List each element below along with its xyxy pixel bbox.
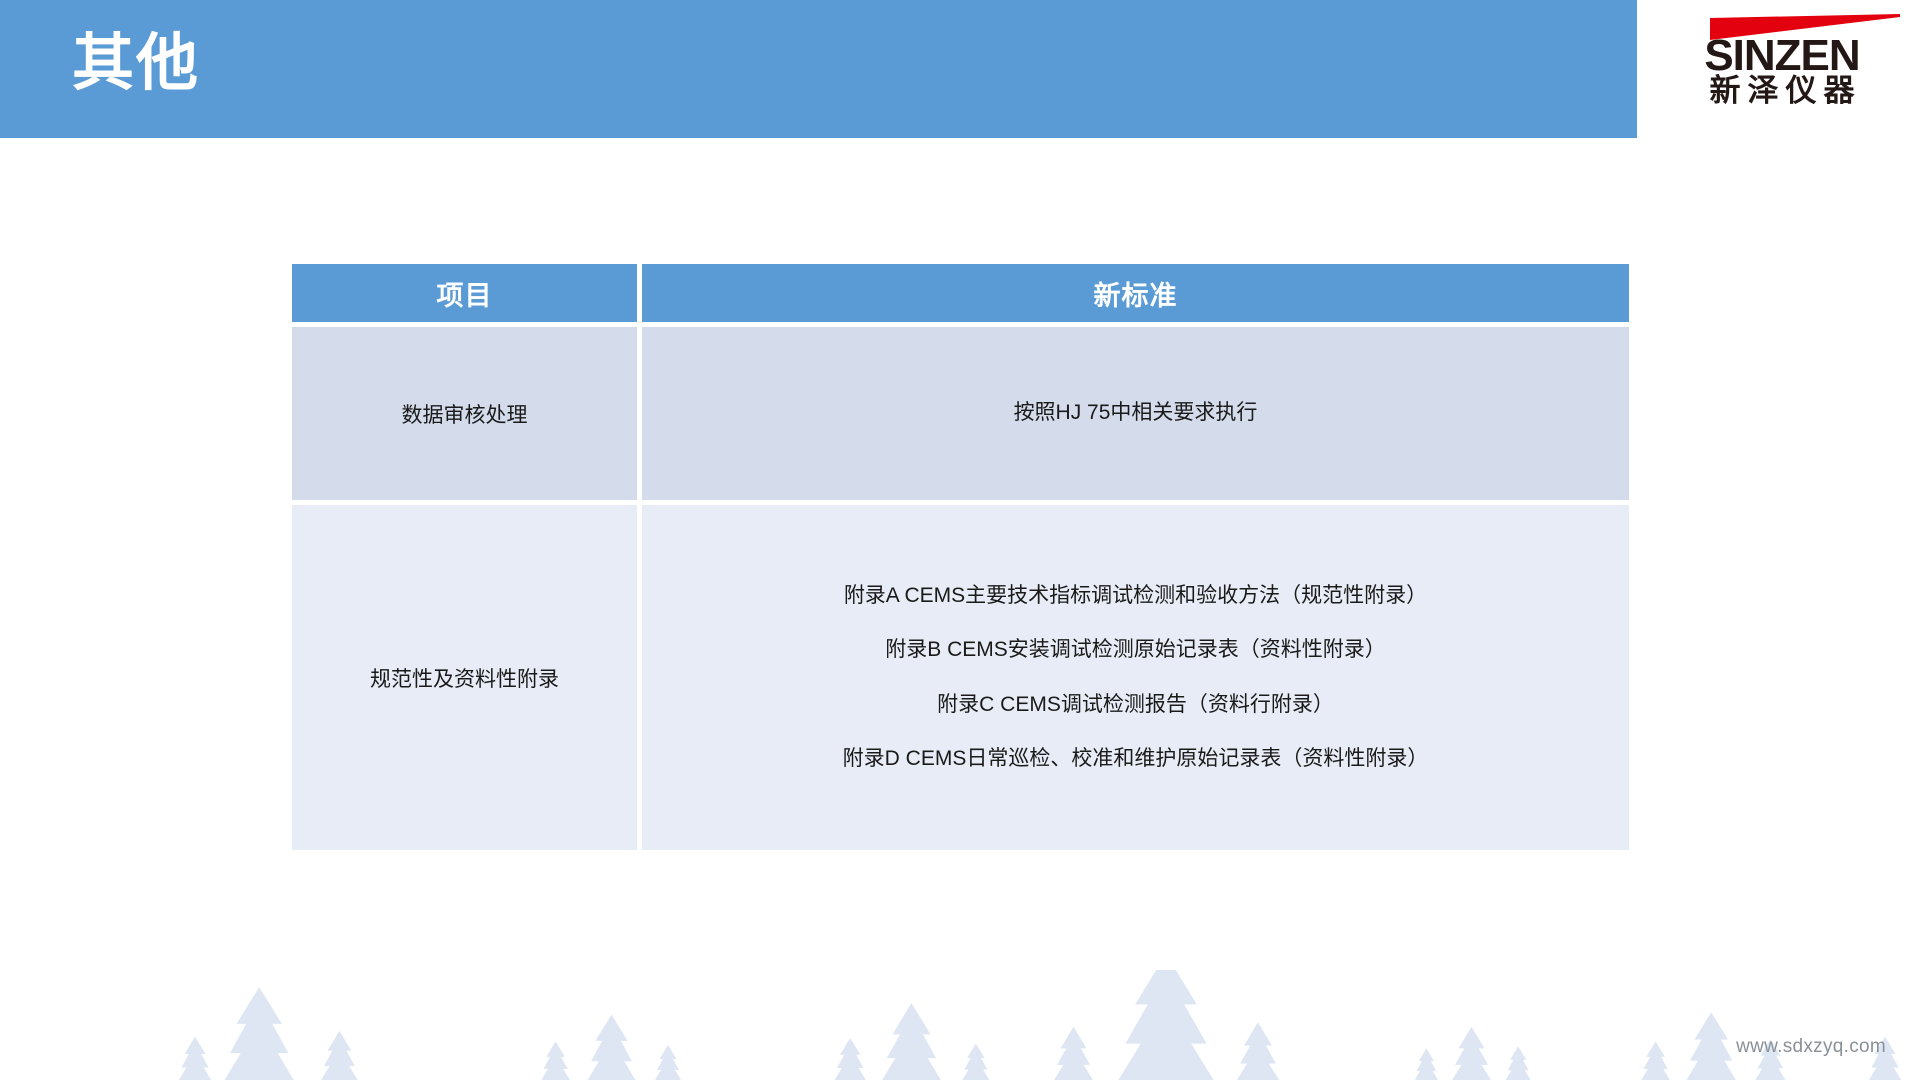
table-header-item: 项目 bbox=[292, 264, 637, 322]
footer-website-url: www.sdxzyq.com bbox=[1736, 1036, 1886, 1058]
table-row: 数据审核处理 按照HJ 75中相关要求执行 bbox=[292, 327, 1629, 500]
table-row: 规范性及资料性附录 附录A CEMS主要技术指标调试检测和验收方法（规范性附录）… bbox=[292, 505, 1629, 850]
decorative-trees bbox=[0, 970, 1920, 1080]
row-standard-cell: 附录A CEMS主要技术指标调试检测和验收方法（规范性附录） 附录B CEMS安… bbox=[642, 505, 1629, 850]
header-banner: 其他 bbox=[0, 0, 1637, 138]
page-title: 其他 bbox=[72, 16, 200, 112]
table-header-row: 项目 新标准 bbox=[292, 264, 1629, 322]
standard-line: 按照HJ 75中相关要求执行 bbox=[1014, 386, 1258, 440]
table-header-standard: 新标准 bbox=[642, 264, 1629, 322]
comparison-table: 项目 新标准 数据审核处理 按照HJ 75中相关要求执行 规范性及资料性附录 附… bbox=[292, 264, 1629, 850]
company-logo: SINZEN 新泽仪器 bbox=[1662, 8, 1902, 112]
slide: 其他 SINZEN 新泽仪器 项目 新标准 数据审核处理 按照HJ 75中相关要… bbox=[0, 0, 1920, 1080]
standard-line: 附录C CEMS调试检测报告（资料行附录） bbox=[937, 678, 1334, 732]
row-item-label: 数据审核处理 bbox=[292, 327, 637, 500]
row-item-label: 规范性及资料性附录 bbox=[292, 505, 637, 850]
standard-line: 附录B CEMS安装调试检测原始记录表（资料性附录） bbox=[885, 623, 1386, 677]
logo-chinese-text: 新泽仪器 bbox=[1662, 74, 1902, 108]
standard-line: 附录D CEMS日常巡检、校准和维护原始记录表（资料性附录） bbox=[843, 732, 1429, 786]
standard-line: 附录A CEMS主要技术指标调试检测和验收方法（规范性附录） bbox=[844, 569, 1427, 623]
row-standard-cell: 按照HJ 75中相关要求执行 bbox=[642, 327, 1629, 500]
